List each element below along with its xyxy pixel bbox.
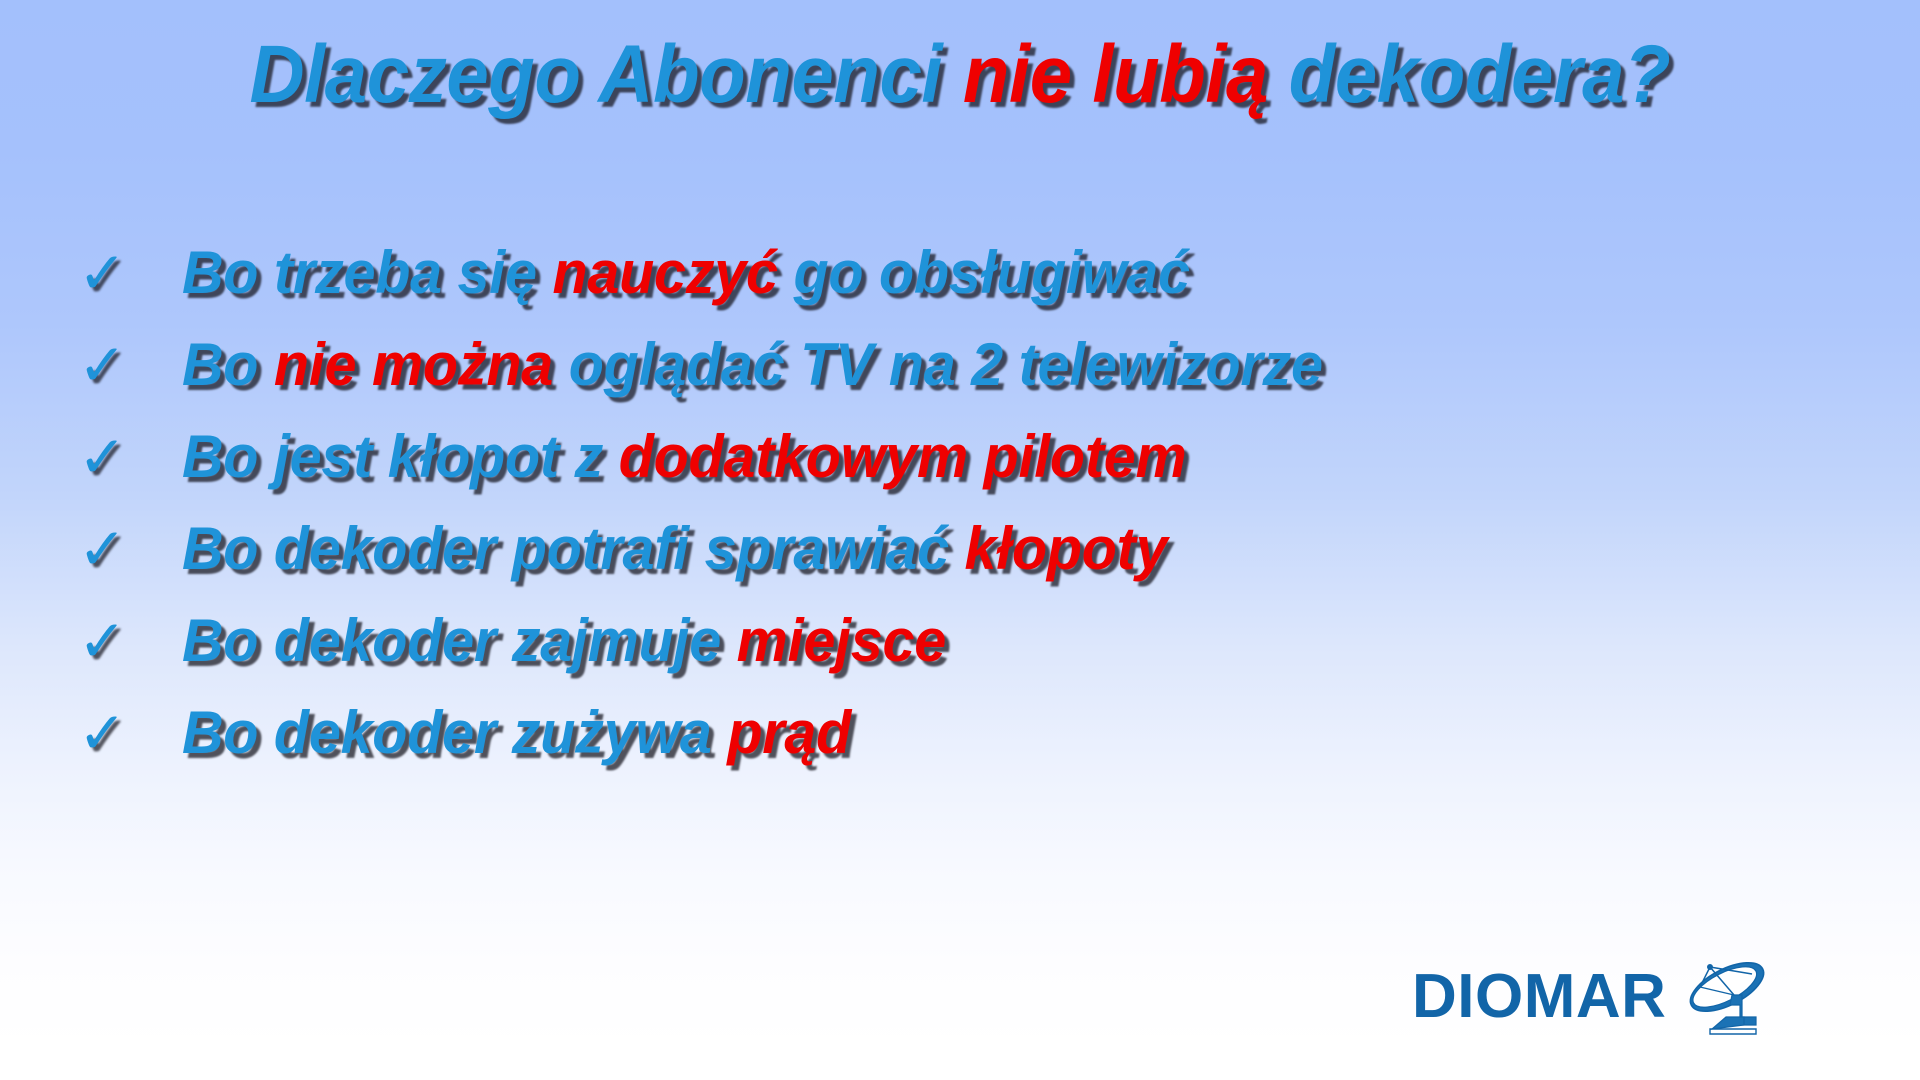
list-item-text: Bo dekoder zużywa prąd	[182, 698, 851, 767]
title-part-highlight: nie lubią	[963, 29, 1268, 120]
text-part-before: Bo dekoder potrafi sprawiać	[182, 515, 965, 582]
text-part-highlight: kłopoty	[965, 515, 1168, 582]
list-item-text: Bo nie można oglądać TV na 2 telewizorze	[182, 330, 1323, 399]
page-title: Dlaczego Abonenci nie lubią dekodera?	[250, 28, 1671, 122]
list-item: ✓ Bo dekoder potrafi sprawiać kłopoty	[78, 514, 1858, 606]
title-part-before: Dlaczego Abonenci	[250, 29, 963, 120]
satellite-dish-icon	[1682, 955, 1774, 1039]
list-item: ✓ Bo trzeba się nauczyć go obsługiwać	[78, 238, 1858, 330]
text-part-before: Bo trzeba się	[182, 239, 552, 306]
list-item-text: Bo dekoder zajmuje miejsce	[182, 606, 946, 675]
check-icon: ✓	[78, 337, 182, 395]
text-part-after: oglądać TV na 2 telewizorze	[553, 331, 1323, 398]
list-item: ✓ Bo nie można oglądać TV na 2 telewizor…	[78, 330, 1858, 422]
list-item-text: Bo jest kłopot z dodatkowym pilotem	[182, 422, 1186, 491]
text-part-highlight: miejsce	[737, 607, 946, 674]
text-part-after: go obsługiwać	[778, 239, 1190, 306]
list-item: ✓ Bo dekoder zajmuje miejsce	[78, 606, 1858, 698]
list-item-text: Bo dekoder potrafi sprawiać kłopoty	[182, 514, 1167, 583]
text-part-before: Bo jest kłopot z	[182, 423, 619, 490]
logo-wordmark: DIOMAR	[1412, 966, 1666, 1028]
text-part-before: Bo dekoder zużywa	[182, 699, 727, 766]
check-icon: ✓	[78, 521, 182, 579]
presentation-slide: Dlaczego Abonenci nie lubią dekodera? ✓ …	[0, 0, 1920, 1080]
text-part-highlight: dodatkowym pilotem	[619, 423, 1187, 490]
text-part-highlight: nauczyć	[552, 239, 777, 306]
check-icon: ✓	[78, 613, 182, 671]
list-item-text: Bo trzeba się nauczyć go obsługiwać	[182, 238, 1190, 307]
list-item: ✓ Bo jest kłopot z dodatkowym pilotem	[78, 422, 1858, 514]
diomar-logo: DIOMAR	[1412, 955, 1774, 1039]
text-part-highlight: prąd	[727, 699, 851, 766]
slide-title-container: Dlaczego Abonenci nie lubią dekodera?	[0, 28, 1920, 122]
list-item: ✓ Bo dekoder zużywa prąd	[78, 698, 1858, 790]
text-part-before: Bo dekoder zajmuje	[182, 607, 737, 674]
check-icon: ✓	[78, 245, 182, 303]
bullet-list: ✓ Bo trzeba się nauczyć go obsługiwać ✓ …	[78, 238, 1858, 790]
text-part-highlight: nie można	[274, 331, 553, 398]
check-icon: ✓	[78, 705, 182, 763]
check-icon: ✓	[78, 429, 182, 487]
title-part-after: dekodera?	[1268, 29, 1670, 120]
text-part-before: Bo	[182, 331, 274, 398]
